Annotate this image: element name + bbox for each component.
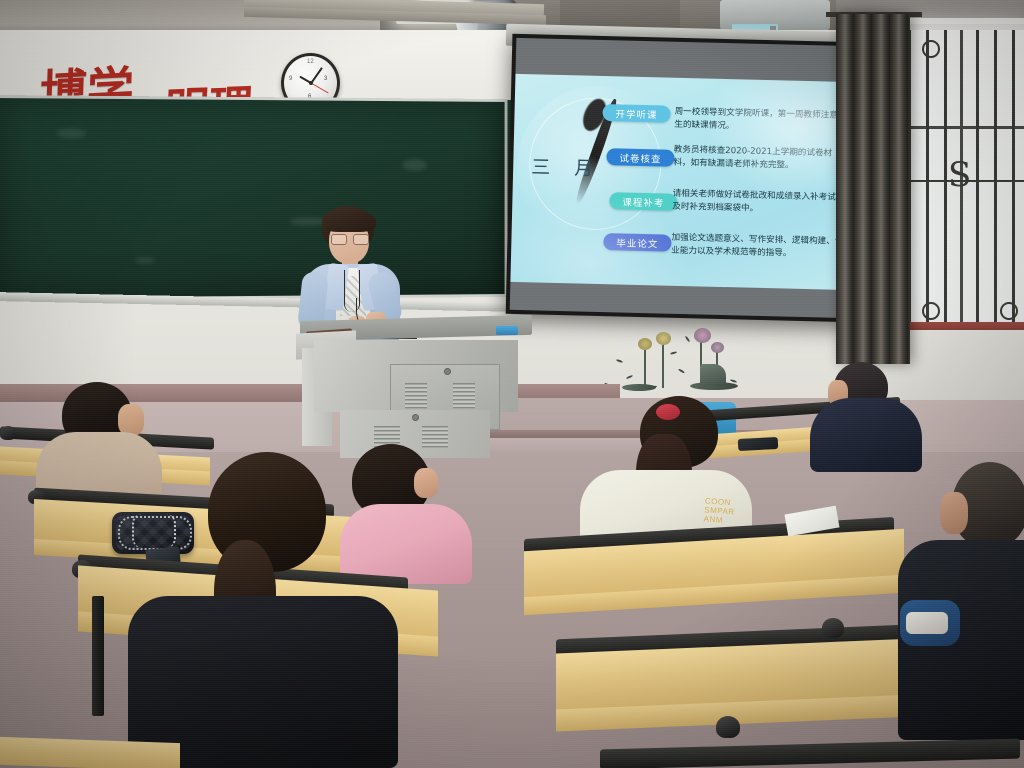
bench-end-knob bbox=[0, 426, 16, 440]
lectern-base bbox=[340, 410, 490, 458]
attendee-dark-sweater-face bbox=[940, 492, 968, 534]
slide-glare-lower bbox=[510, 191, 692, 290]
attendee-pink-top-face bbox=[414, 468, 438, 498]
wall-decal-dandelion bbox=[604, 330, 774, 400]
blue-object-on-lectern bbox=[496, 326, 518, 335]
projection-screen: 三 月 开学听课 试卷核查 课程补考 毕业论文 周一校领导到文学院听课，第一周教… bbox=[506, 34, 861, 322]
chalkboard bbox=[0, 95, 507, 301]
lectern-base-lock-icon[interactable] bbox=[412, 414, 419, 421]
grille-ring-decor bbox=[922, 40, 940, 58]
lectern-base-vent-right bbox=[422, 426, 448, 448]
white-object-in-hand bbox=[906, 612, 948, 634]
lectern-vent-left bbox=[405, 383, 427, 409]
window-grille-scroll-icon: S bbox=[948, 158, 970, 194]
window-curtain[interactable] bbox=[836, 14, 910, 364]
slide-month-label: 三 月 bbox=[531, 152, 603, 181]
attendee-pink-top-body bbox=[340, 504, 472, 584]
lectern bbox=[296, 318, 532, 458]
slide-text-4: 加强论文选题意义、写作安排、逻辑构建、专业能力以及学术规范等的指导。 bbox=[671, 232, 847, 261]
grille-ring-decor bbox=[922, 302, 940, 320]
bench-leg bbox=[92, 596, 104, 716]
presenter-fringe bbox=[322, 210, 376, 232]
slide-glare bbox=[703, 74, 856, 203]
window: S bbox=[900, 30, 1024, 330]
desk-row-bottom-left bbox=[0, 737, 180, 768]
bench-end-knob bbox=[716, 716, 740, 738]
presenter-glasses-icon bbox=[331, 234, 367, 243]
clock-numeral-3: 3 bbox=[324, 76, 327, 82]
bench-end-knob bbox=[822, 618, 844, 638]
presentation-slide: 三 月 开学听课 试卷核查 课程补考 毕业论文 周一校领导到文学院听课，第一周教… bbox=[510, 74, 855, 290]
attendee-navy-suit-body bbox=[810, 398, 922, 472]
lectern-lock-icon[interactable] bbox=[444, 368, 451, 375]
slide-pill-2: 试卷核查 bbox=[606, 148, 674, 167]
slide-pill-1: 开学听课 bbox=[602, 104, 670, 123]
lectern-vent-right bbox=[453, 383, 475, 409]
classroom-photo: 博学 明理 励志 笃行 12 3 6 9 三 月 bbox=[0, 0, 1024, 768]
red-scrunchie bbox=[656, 404, 680, 420]
phone-on-desk-right[interactable] bbox=[738, 437, 779, 451]
handbag-chain-strap-icon bbox=[132, 514, 176, 548]
grille-ring-decor bbox=[1000, 302, 1018, 320]
handbag[interactable] bbox=[112, 512, 194, 554]
lectern-cabinet bbox=[314, 340, 518, 412]
